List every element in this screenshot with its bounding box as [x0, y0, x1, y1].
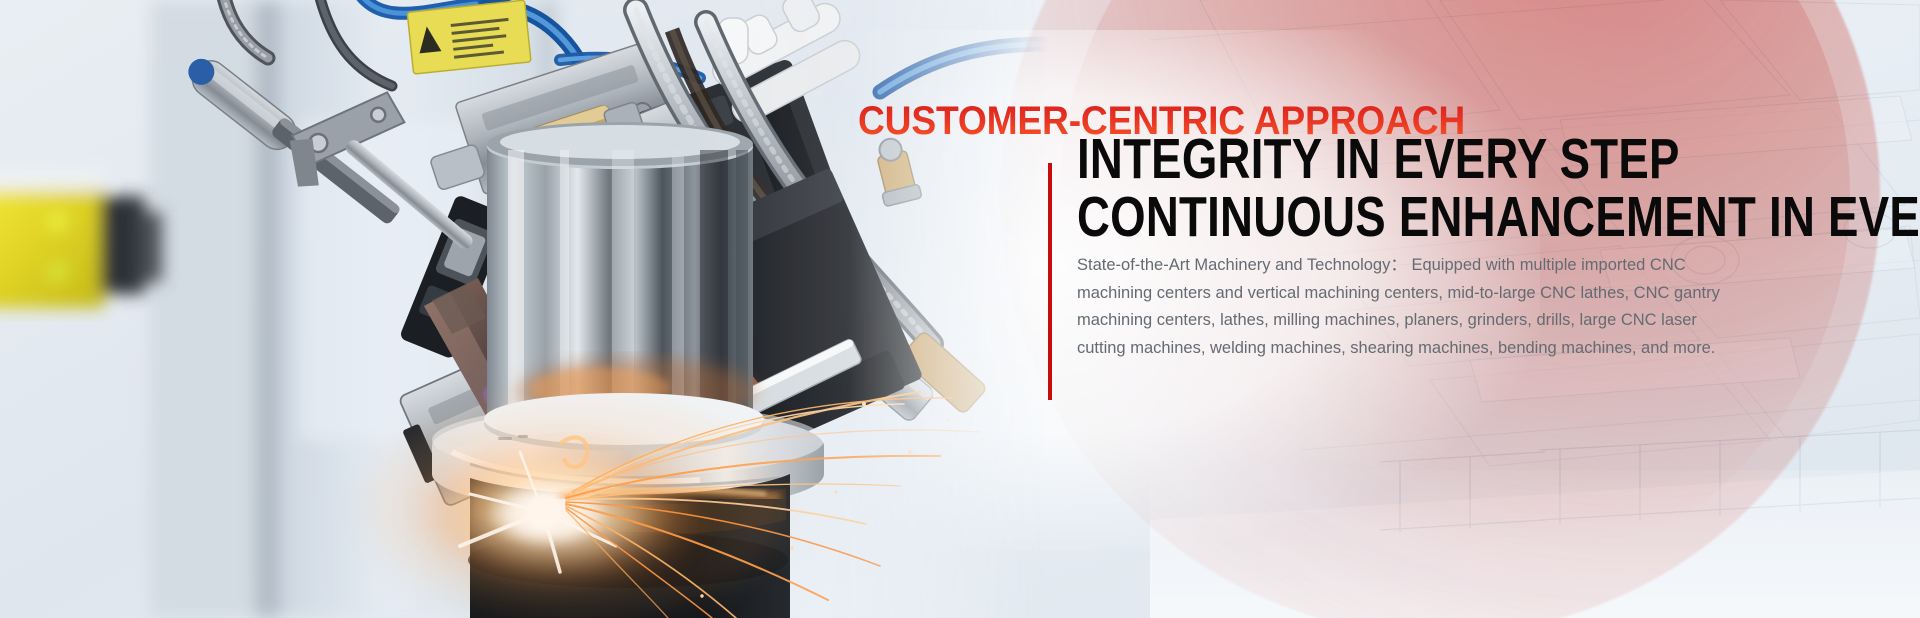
red-accent-rule	[1048, 163, 1052, 400]
body-line-4: cutting machines, welding machines, shea…	[1077, 335, 1677, 363]
body-line-2: machining centers and vertical machining…	[1077, 280, 1677, 308]
hero-banner: CUSTOMER-CENTRIC APPROACH INTEGRITY IN E…	[0, 0, 1920, 618]
banner-text-content: CUSTOMER-CENTRIC APPROACH INTEGRITY IN E…	[0, 0, 1920, 618]
banner-headline-group: INTEGRITY IN EVERY STEP CONTINUOUS ENHAN…	[1077, 130, 1897, 247]
headline-line-1: INTEGRITY IN EVERY STEP	[1077, 130, 1733, 188]
banner-body-copy: State-of-the-Art Machinery and Technolog…	[1077, 252, 1677, 362]
body-line-3: machining centers, lathes, milling machi…	[1077, 307, 1677, 335]
headline-line-2: CONTINUOUS ENHANCEMENT IN EVERY PROCESS	[1077, 188, 1733, 247]
body-line-1: State-of-the-Art Machinery and Technolog…	[1077, 252, 1677, 280]
